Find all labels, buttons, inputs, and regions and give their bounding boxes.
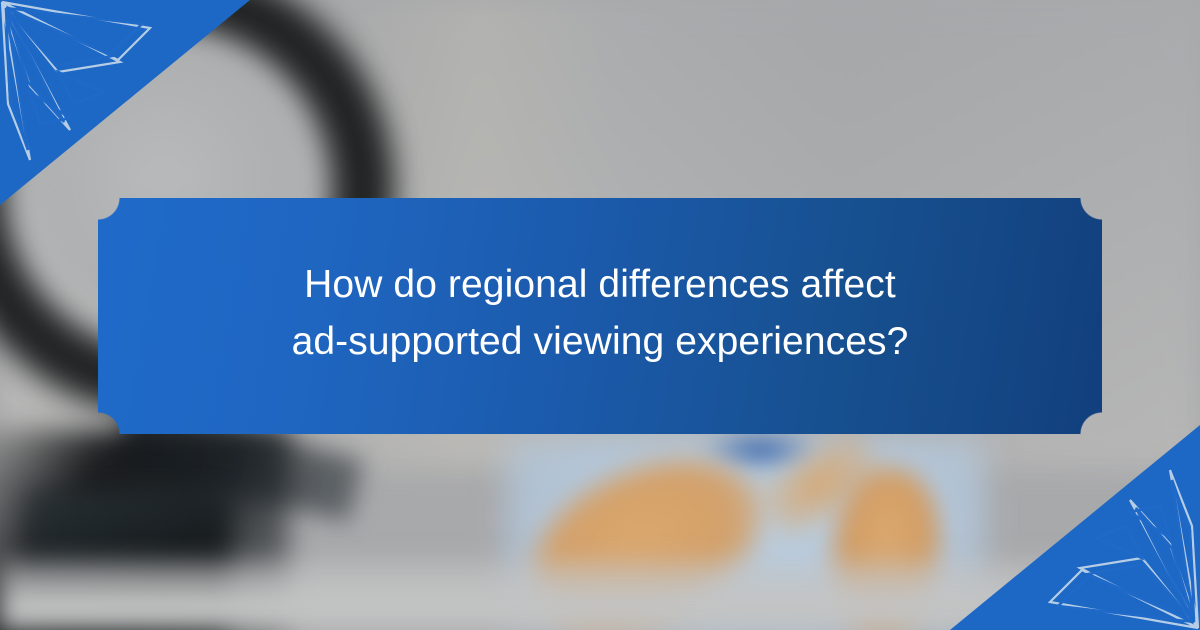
- page-title-line-1: How do regional differences affect: [292, 257, 909, 314]
- page-title-line-2: ad-supported viewing experiences?: [292, 314, 909, 371]
- starburst-ornament-top-left: [0, 0, 250, 205]
- page-title: How do regional differences affect ad-su…: [292, 257, 909, 374]
- headline-card: How do regional differences affect ad-su…: [98, 198, 1102, 434]
- starburst-ornament-bottom-right: [950, 425, 1200, 630]
- social-share-card: How do regional differences affect ad-su…: [0, 0, 1200, 630]
